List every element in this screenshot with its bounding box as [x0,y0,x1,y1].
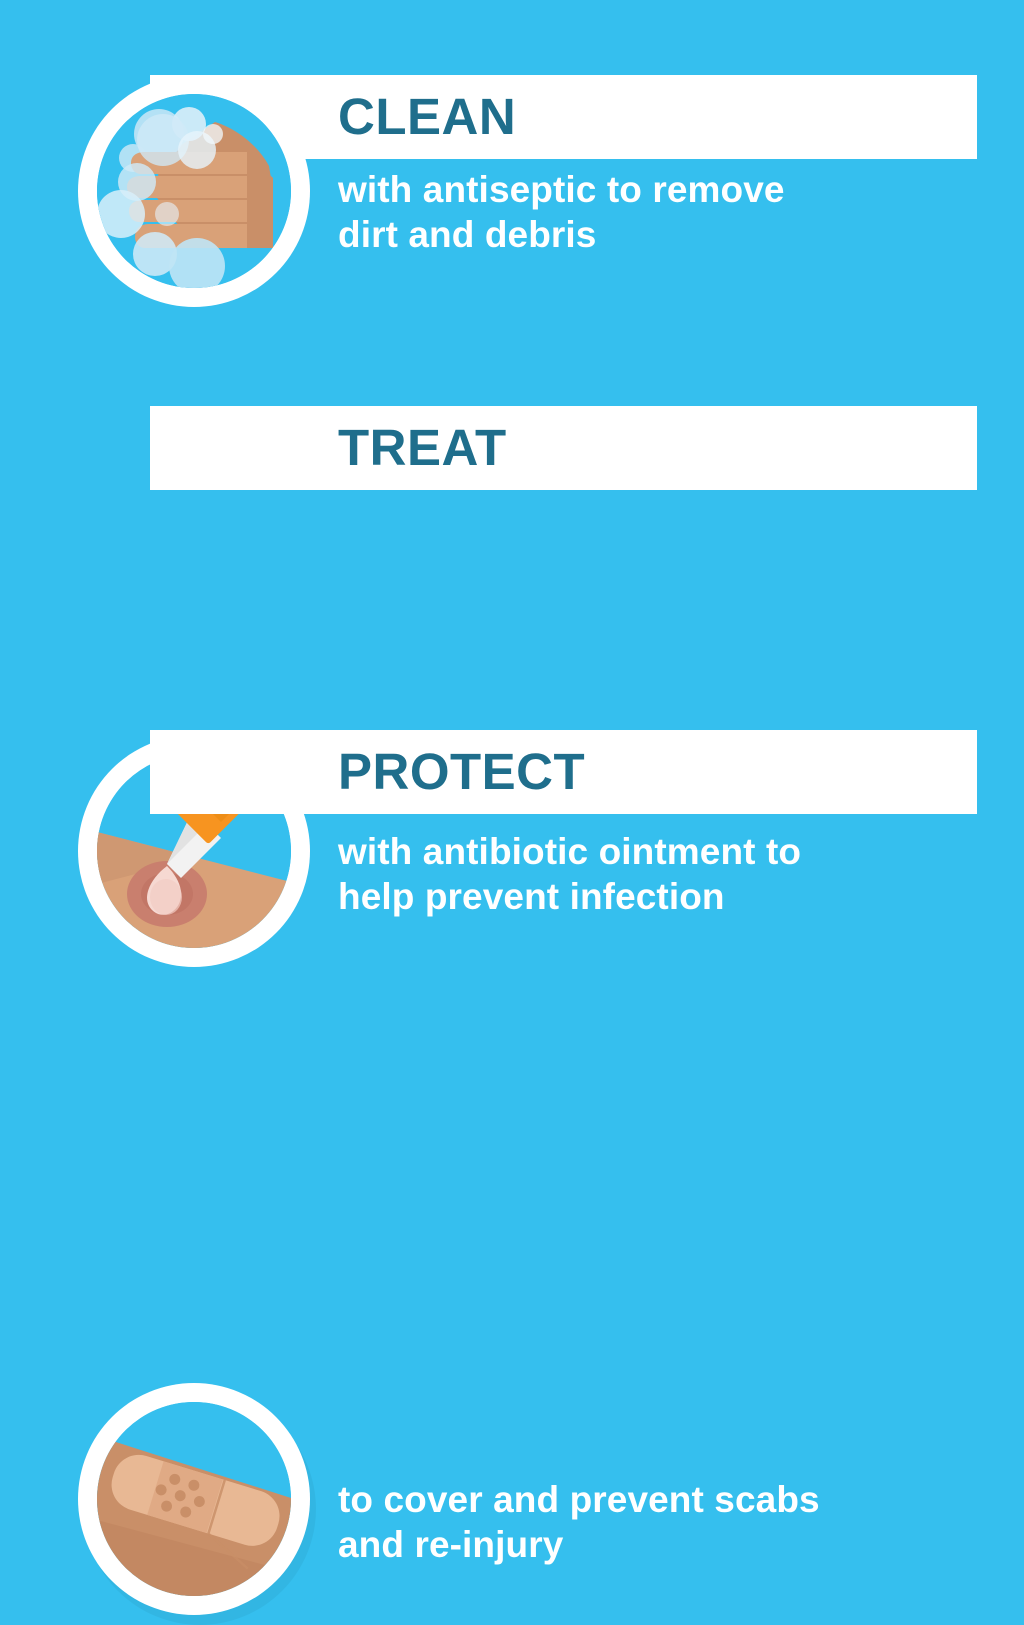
title-bar-treat [150,406,977,490]
step-title-protect: PROTECT [338,730,585,814]
step-protect: PROTECT to cover and prevent scabs and r… [0,655,1024,995]
desc-line: dirt and debris [338,212,998,257]
washing-hands-icon [97,94,291,288]
step-title-treat: TREAT [338,406,507,490]
desc-line: to cover and prevent scabs [338,1477,998,1522]
step-description-clean: with antiseptic to remove dirt and debri… [338,167,998,257]
step-description-protect: to cover and prevent scabs and re-injury [338,1477,998,1567]
icon-circle-clean [78,75,310,307]
step-title-clean: CLEAN [338,75,516,159]
step-clean: CLEAN with antiseptic to remove dirt and… [0,0,1024,340]
adhesive-bandage-icon [97,1402,291,1596]
desc-line: and re-injury [338,1522,998,1567]
infographic-wound-care-steps: CLEAN with antiseptic to remove dirt and… [0,0,1024,1024]
icon-circle-protect [78,1383,310,1615]
step-treat: TREAT with antibiotic ointment to help p… [0,330,1024,670]
desc-line: with antiseptic to remove [338,167,998,212]
